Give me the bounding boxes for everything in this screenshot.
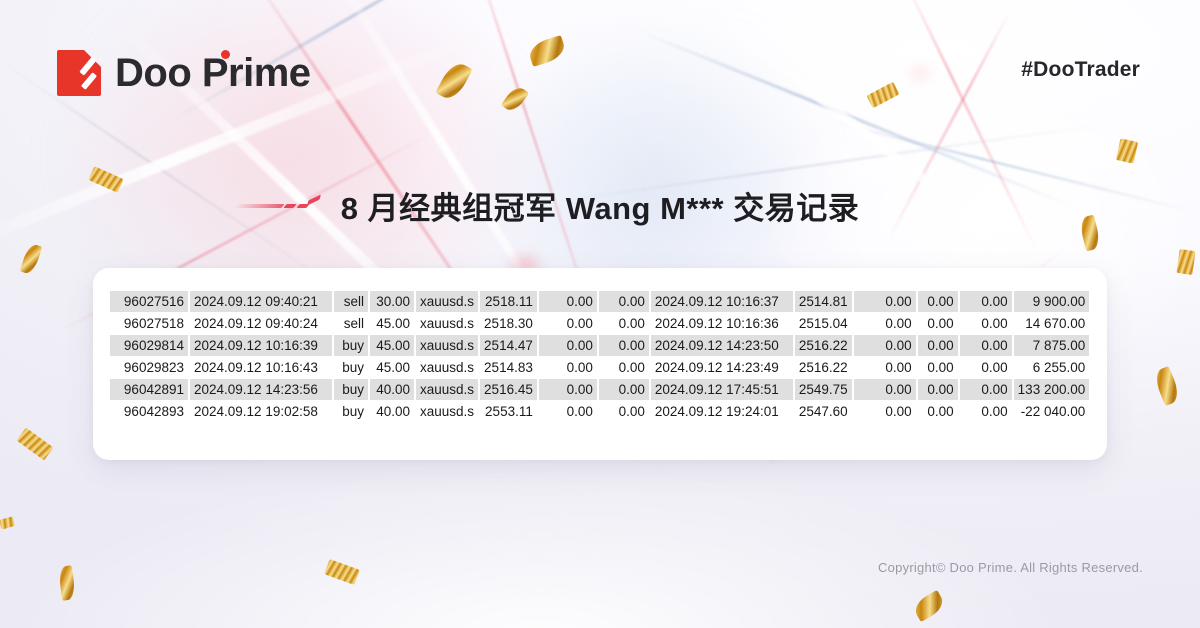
cell-swap: 0.00 <box>960 401 1012 422</box>
cell-swap: 0.00 <box>960 335 1012 356</box>
cell-size: 45.00 <box>370 357 414 378</box>
cell-t-p: 0.00 <box>599 401 649 422</box>
cell-commission: 0.00 <box>854 291 916 312</box>
cell-type: buy <box>334 401 368 422</box>
cell-open-time: 2024.09.12 09:40:21 <box>190 291 332 312</box>
brand-logo[interactable]: Doo Prime <box>57 50 311 96</box>
page-title: 8 月经典组冠军 Wang M*** 交易记录 <box>341 183 859 228</box>
cell-taxes: 0.00 <box>918 379 958 400</box>
cell-close-price: 2515.04 <box>795 313 852 334</box>
cell-ticket: 96029814 <box>110 335 188 356</box>
trade-history-table: 960275162024.09.12 09:40:21sell30.00xauu… <box>108 290 1091 423</box>
cell-close-time: 2024.09.12 10:16:36 <box>651 313 793 334</box>
cell-item: xauusd.s <box>416 313 478 334</box>
cell-close-price: 2549.75 <box>795 379 852 400</box>
cell-commission: 0.00 <box>854 401 916 422</box>
cell-size: 45.00 <box>370 335 414 356</box>
trade-history-card: 960275162024.09.12 09:40:21sell30.00xauu… <box>93 268 1107 460</box>
cell-type: buy <box>334 357 368 378</box>
cell-taxes: 0.00 <box>918 313 958 334</box>
cell-size: 30.00 <box>370 291 414 312</box>
cell-profit: 14 670.00 <box>1014 313 1090 334</box>
cell-close-price: 2516.22 <box>795 335 852 356</box>
cell-item: xauusd.s <box>416 335 478 356</box>
cell-item: xauusd.s <box>416 357 478 378</box>
cell-profit: -22 040.00 <box>1014 401 1090 422</box>
cell-commission: 0.00 <box>854 357 916 378</box>
cell-close-price: 2547.60 <box>795 401 852 422</box>
cell-s-l: 0.00 <box>539 357 597 378</box>
cell-open-time: 2024.09.12 09:40:24 <box>190 313 332 334</box>
cell-t-p: 0.00 <box>599 291 649 312</box>
table-row[interactable]: 960275162024.09.12 09:40:21sell30.00xauu… <box>110 291 1089 312</box>
cell-size: 40.00 <box>370 401 414 422</box>
cell-item: xauusd.s <box>416 401 478 422</box>
trade-table-body: 960275162024.09.12 09:40:21sell30.00xauu… <box>110 291 1089 422</box>
logo-i-dot-icon <box>221 50 230 59</box>
table-row[interactable]: 960428932024.09.12 19:02:58buy40.00xauus… <box>110 401 1089 422</box>
table-row[interactable]: 960428912024.09.12 14:23:56buy40.00xauus… <box>110 379 1089 400</box>
cell-t-p: 0.00 <box>599 313 649 334</box>
cell-taxes: 0.00 <box>918 401 958 422</box>
cell-commission: 0.00 <box>854 313 916 334</box>
cell-type: buy <box>334 335 368 356</box>
cell-open-price: 2518.30 <box>480 313 537 334</box>
cell-taxes: 0.00 <box>918 335 958 356</box>
cell-t-p: 0.00 <box>599 357 649 378</box>
cell-taxes: 0.00 <box>918 357 958 378</box>
cell-profit: 133 200.00 <box>1014 379 1090 400</box>
cell-swap: 0.00 <box>960 313 1012 334</box>
cell-t-p: 0.00 <box>599 379 649 400</box>
cell-profit: 7 875.00 <box>1014 335 1090 356</box>
table-row[interactable]: 960275182024.09.12 09:40:24sell45.00xauu… <box>110 313 1089 334</box>
campaign-hashtag: #DooTrader <box>1021 58 1140 82</box>
cell-s-l: 0.00 <box>539 335 597 356</box>
brand-name: Doo Prime <box>115 53 311 93</box>
cell-profit: 6 255.00 <box>1014 357 1090 378</box>
cell-size: 40.00 <box>370 379 414 400</box>
cell-open-price: 2514.83 <box>480 357 537 378</box>
cell-item: xauusd.s <box>416 379 478 400</box>
cell-close-price: 2516.22 <box>795 357 852 378</box>
cell-open-time: 2024.09.12 10:16:43 <box>190 357 332 378</box>
cell-size: 45.00 <box>370 313 414 334</box>
cell-close-time: 2024.09.12 14:23:49 <box>651 357 793 378</box>
cell-type: sell <box>334 291 368 312</box>
cell-taxes: 0.00 <box>918 291 958 312</box>
cell-ticket: 96042893 <box>110 401 188 422</box>
copyright-notice: Copyright© Doo Prime. All Rights Reserve… <box>878 560 1143 575</box>
cell-item: xauusd.s <box>416 291 478 312</box>
cell-open-time: 2024.09.12 10:16:39 <box>190 335 332 356</box>
cell-close-time: 2024.09.12 17:45:51 <box>651 379 793 400</box>
cell-open-price: 2516.45 <box>480 379 537 400</box>
cell-swap: 0.00 <box>960 291 1012 312</box>
cell-t-p: 0.00 <box>599 335 649 356</box>
cell-s-l: 0.00 <box>539 291 597 312</box>
cell-ticket: 96042891 <box>110 379 188 400</box>
page-header: Doo Prime #DooTrader <box>0 0 1200 150</box>
cell-open-price: 2514.47 <box>480 335 537 356</box>
cell-open-time: 2024.09.12 19:02:58 <box>190 401 332 422</box>
cell-type: buy <box>334 379 368 400</box>
decorative-arrow-right-icon <box>881 192 965 218</box>
cell-s-l: 0.00 <box>539 313 597 334</box>
cell-close-time: 2024.09.12 10:16:37 <box>651 291 793 312</box>
cell-open-price: 2518.11 <box>480 291 537 312</box>
table-row[interactable]: 960298232024.09.12 10:16:43buy45.00xauus… <box>110 357 1089 378</box>
cell-ticket: 96027516 <box>110 291 188 312</box>
cell-ticket: 96029823 <box>110 357 188 378</box>
table-row[interactable]: 960298142024.09.12 10:16:39buy45.00xauus… <box>110 335 1089 356</box>
cell-close-time: 2024.09.12 19:24:01 <box>651 401 793 422</box>
cell-close-time: 2024.09.12 14:23:50 <box>651 335 793 356</box>
decorative-arrow-left-icon <box>235 192 319 218</box>
cell-open-time: 2024.09.12 14:23:56 <box>190 379 332 400</box>
title-row: 8 月经典组冠军 Wang M*** 交易记录 <box>0 178 1200 232</box>
cell-commission: 0.00 <box>854 379 916 400</box>
doo-prime-logo-mark-icon <box>57 50 101 96</box>
cell-swap: 0.00 <box>960 379 1012 400</box>
cell-ticket: 96027518 <box>110 313 188 334</box>
cell-s-l: 0.00 <box>539 401 597 422</box>
cell-profit: 9 900.00 <box>1014 291 1090 312</box>
cell-close-price: 2514.81 <box>795 291 852 312</box>
cell-swap: 0.00 <box>960 357 1012 378</box>
cell-s-l: 0.00 <box>539 379 597 400</box>
cell-commission: 0.00 <box>854 335 916 356</box>
cell-type: sell <box>334 313 368 334</box>
confetti-piece <box>1176 249 1195 275</box>
cell-open-price: 2553.11 <box>480 401 537 422</box>
brand-name-text: Doo Prime <box>115 51 311 95</box>
